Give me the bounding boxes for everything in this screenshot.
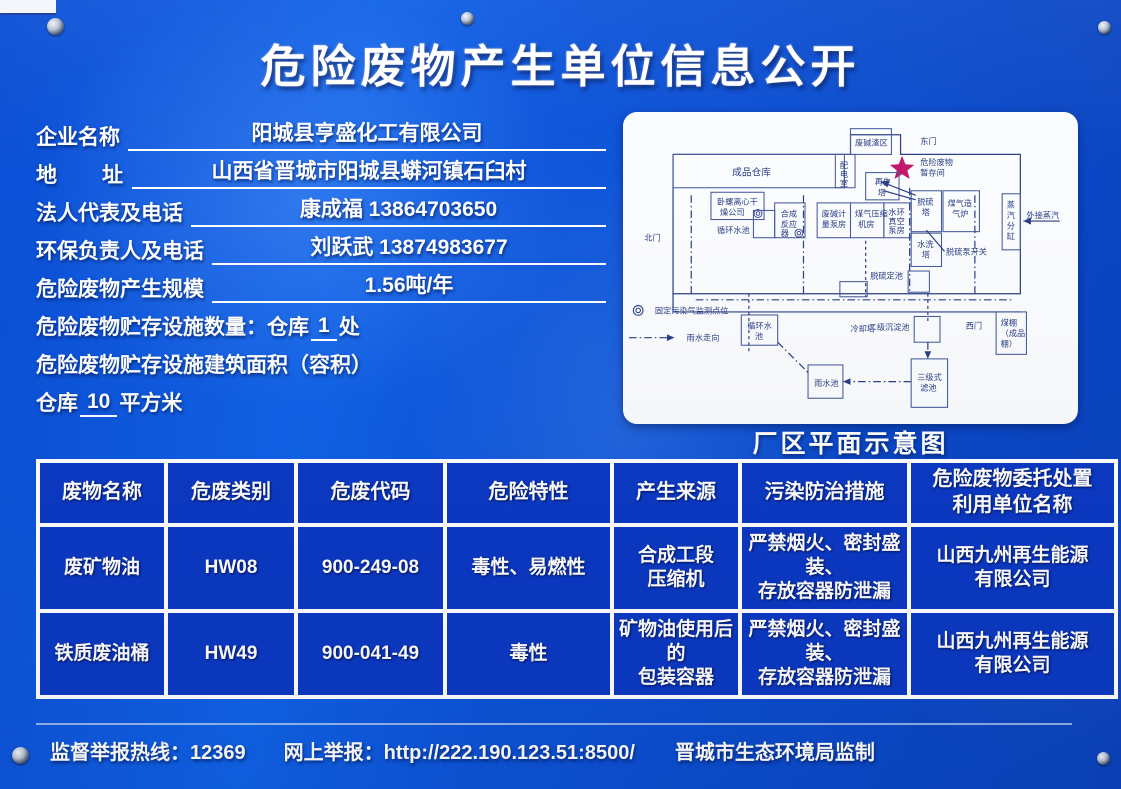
info-value-legal-rep: 康成福 13864703650 [191, 196, 606, 227]
diagram-label-finished-warehouse: 成品仓库 [732, 166, 771, 179]
diagram-label-circ-pool2: 池 [755, 331, 763, 341]
facility-count-prefix: 危险废物贮存设施数量：仓库 [36, 311, 309, 341]
page-title: 危险废物产生单位信息公开 [0, 30, 1121, 95]
diagram-label-third-filter1: 三级式 [917, 372, 942, 382]
info-label-env-officer: 环保负责人及电话 [36, 235, 204, 265]
table-header-category: 危废类别 [168, 463, 294, 523]
diagram-label-alkali-pump1: 废碱计 [822, 209, 847, 219]
diagram-label-gas-compressor2: 机房 [858, 219, 874, 229]
info-label-address: 地 址 [36, 159, 124, 189]
cell-source: 合成工段 压缩机 [614, 527, 738, 609]
diagram-label-coal-shed1: 煤棚 [1001, 318, 1017, 328]
cell-measures-line1: 严禁烟火、密封盛装、 [745, 532, 904, 581]
diagram-label-gas-furnace2: 气炉 [952, 209, 968, 219]
cell-measures-line2: 存放容器防泄漏 [745, 580, 904, 604]
diagram-label-desulf-tower1: 脱硫 [917, 196, 933, 206]
cell-entrust-line1: 山西九州再生能源 [914, 630, 1111, 654]
table-header-entrust-line2: 利用单位名称 [914, 493, 1111, 519]
diagram-label-third-filter2: 滤池 [920, 383, 936, 393]
facility-count-value: 1 [311, 314, 337, 341]
bolt-bottom-right [1097, 752, 1110, 765]
facility-area-suffix: 平方米 [119, 387, 182, 417]
diagram-label-west-gate: 西门 [966, 321, 982, 331]
cell-measures: 严禁烟火、密封盛装、 存放容器防泄漏 [742, 613, 907, 695]
diagram-label-vacuum-pump2: 真空 [888, 216, 904, 226]
table-header-measures: 污染防治措施 [742, 463, 907, 523]
diagram-label-gas-furnace1: 煤气造 [948, 198, 973, 208]
cell-measures: 严禁烟火、密封盛装、 存放容器防泄漏 [742, 527, 907, 609]
diagram-label-water-wash1: 水洗 [917, 239, 933, 249]
plant-layout-svg: 成品仓库 配 电 室 废碱渣区 东门 危险废物 暂存间 再生 塔 [623, 112, 1078, 424]
cell-source-line2: 包装容器 [617, 666, 735, 690]
facility-area-value: 10 [80, 390, 117, 417]
table-header-name: 废物名称 [40, 463, 164, 523]
table-header-hazard: 危险特性 [447, 463, 610, 523]
footer-online-report: 网上举报：http://222.190.123.51:8500/ [284, 736, 635, 765]
diagram-label-desulf-circ: 脱硫定池 [870, 271, 903, 281]
diagram-label-second-settling: 二级沉淀池 [869, 322, 910, 332]
info-row-company: 企业名称 阳城县亨盛化工有限公司 [36, 113, 606, 151]
footer-authority: 晋城市生态环境局监制 [675, 736, 875, 765]
cell-entrust-line1: 山西九州再生能源 [914, 544, 1111, 568]
info-value-scale: 1.56吨/年 [212, 272, 606, 303]
diagram-label-east-gate: 东门 [920, 136, 936, 146]
cell-entrust: 山西九州再生能源 有限公司 [911, 527, 1114, 609]
diagram-label-power-room3: 室 [840, 178, 848, 188]
diagram-label-steam-header2: 汽 [1007, 210, 1015, 220]
cell-source-line1: 合成工段 [617, 544, 735, 568]
plant-layout-diagram: 成品仓库 配 电 室 废碱渣区 东门 危险废物 暂存间 再生 塔 [623, 112, 1078, 424]
cell-entrust-line2: 有限公司 [914, 654, 1111, 678]
diagram-label-centrifuge1: 卧螺离心干 [717, 196, 758, 206]
info-row-address: 地 址 山西省晋城市阳城县蟒河镇石臼村 [36, 151, 606, 189]
diagram-label-steam-header4: 缸 [1007, 231, 1015, 241]
diagram-label-water-wash2: 塔 [922, 249, 930, 259]
facility-area-prefix: 仓库 [36, 387, 78, 417]
diagram-label-steam-header1: 蒸 [1007, 199, 1015, 209]
cell-code: 900-041-49 [298, 613, 443, 695]
diagram-label-vacuum-pump3: 泵房 [888, 225, 904, 235]
table-header-row: 废物名称 危废类别 危废代码 危险特性 产生来源 污染防治措施 危险废物委托处置… [40, 463, 1114, 523]
diagram-label-alkali-pump2: 量泵房 [822, 219, 847, 229]
info-row-facility-area: 仓库 10 平方米 [36, 379, 606, 417]
diagram-label-coal-shed2: （成品 [1001, 328, 1026, 338]
info-label-legal-rep: 法人代表及电话 [36, 197, 183, 227]
cell-source: 矿物油使用后的 包装容器 [614, 613, 738, 695]
board-edge-strip [0, 0, 56, 15]
info-row-facility-area-title: 危险废物贮存设施建筑面积（容积） [36, 341, 606, 379]
diagram-label-centrifuge2: 燥公司 [720, 208, 745, 217]
cell-source-line1: 矿物油使用后的 [617, 618, 735, 667]
table-header-entrust: 危险废物委托处置 利用单位名称 [911, 463, 1114, 523]
bolt-bottom-left [12, 747, 29, 764]
footer-divider [36, 723, 1072, 725]
info-value-env-officer: 刘跃武 13874983677 [212, 234, 606, 265]
diagram-label-synth3: 器 [781, 229, 789, 238]
diagram-label-coal-shed3: 棚） [1001, 339, 1017, 349]
info-row-facility-count: 危险废物贮存设施数量：仓库 1 处 [36, 303, 606, 341]
diagram-label-hazard-store2: 暂存间 [920, 168, 945, 178]
sign-board: 危险废物产生单位信息公开 企业名称 阳城县亨盛化工有限公司 地 址 山西省晋城市… [0, 0, 1121, 789]
info-label-company: 企业名称 [36, 121, 120, 151]
footer-hotline: 监督举报热线：12369 [50, 736, 246, 765]
table-row: 铁质废油桶 HW49 900-041-49 毒性 矿物油使用后的 包装容器 严禁… [40, 613, 1114, 695]
diagram-label-desulf-pump: 脱硫泵开关 [946, 246, 987, 256]
bolt-top-center [461, 12, 474, 25]
diagram-label-power-room2: 电 [840, 169, 848, 179]
diagram-legend-rainwater: 雨水走向 [687, 333, 720, 343]
cell-measures-line1: 严禁烟火、密封盛装、 [745, 618, 904, 667]
diagram-label-synth1: 合成 [781, 209, 797, 219]
diagram-label-external-steam: 外接蒸汽 [1026, 210, 1059, 220]
cell-hazard: 毒性、易燃性 [447, 527, 610, 609]
diagram-label-circ-pool-a: 循环水池 [717, 225, 750, 235]
cell-name: 铁质废油桶 [40, 613, 164, 695]
diagram-label-circ-pool1: 循环水 [747, 321, 772, 331]
diagram-label-desulf-tower2: 塔 [922, 207, 930, 217]
cell-hazard: 毒性 [447, 613, 610, 695]
cell-category: HW08 [168, 527, 294, 609]
info-row-legal-rep: 法人代表及电话 康成福 13864703650 [36, 189, 606, 227]
info-block: 企业名称 阳城县亨盛化工有限公司 地 址 山西省晋城市阳城县蟒河镇石臼村 法人代… [36, 113, 606, 417]
facility-count-suffix: 处 [339, 311, 360, 341]
table-row: 废矿物油 HW08 900-249-08 毒性、易燃性 合成工段 压缩机 严禁烟… [40, 527, 1114, 609]
cell-name: 废矿物油 [40, 527, 164, 609]
cell-category: HW49 [168, 613, 294, 695]
info-row-scale: 危险废物产生规模 1.56吨/年 [36, 265, 606, 303]
diagram-legend-monitoring-point: 固定污染气监测点位 [655, 305, 729, 315]
info-row-env-officer: 环保负责人及电话 刘跃武 13874983677 [36, 227, 606, 265]
diagram-caption: 厂区平面示意图 [623, 424, 1078, 460]
cell-code: 900-249-08 [298, 527, 443, 609]
diagram-label-power-room: 配 [840, 161, 848, 170]
diagram-label-gas-compressor1: 煤气压缩 [855, 209, 888, 219]
diagram-label-regen-tower2: 塔 [878, 187, 886, 197]
table-header-code: 危废代码 [298, 463, 443, 523]
cell-entrust: 山西九州再生能源 有限公司 [911, 613, 1114, 695]
hazardous-waste-table: 废物名称 危废类别 危废代码 危险特性 产生来源 污染防治措施 危险废物委托处置… [36, 459, 1118, 699]
diagram-label-synth2: 反应 [781, 219, 797, 229]
footer: 监督举报热线：12369 网上举报：http://222.190.123.51:… [36, 733, 1076, 767]
hazard-waste-star-marker [890, 156, 914, 179]
info-value-company: 阳城县亨盛化工有限公司 [128, 120, 606, 151]
diagram-label-steam-header3: 分 [1007, 222, 1015, 231]
plant-layout-canvas: 成品仓库 配 电 室 废碱渣区 东门 危险废物 暂存间 再生 塔 [623, 112, 1078, 424]
cell-source-line2: 压缩机 [617, 568, 735, 592]
cell-entrust-line2: 有限公司 [914, 568, 1111, 592]
diagram-label-vacuum-pump1: 水环 [888, 207, 904, 217]
diagram-label-alkali-slag: 废碱渣区 [855, 137, 888, 147]
diagram-label-hazard-store1: 危险废物 [920, 157, 953, 167]
info-value-address: 山西省晋城市阳城县蟒河镇石臼村 [132, 158, 606, 189]
table-header-entrust-line1: 危险废物委托处置 [914, 467, 1111, 493]
diagram-label-rain-pool: 雨水池 [814, 378, 839, 388]
table-header-source: 产生来源 [614, 463, 738, 523]
diagram-label-north-gate: 北门 [644, 233, 660, 243]
cell-measures-line2: 存放容器防泄漏 [745, 666, 904, 690]
facility-area-title: 危险废物贮存设施建筑面积（容积） [36, 349, 372, 379]
info-label-scale: 危险废物产生规模 [36, 273, 204, 303]
